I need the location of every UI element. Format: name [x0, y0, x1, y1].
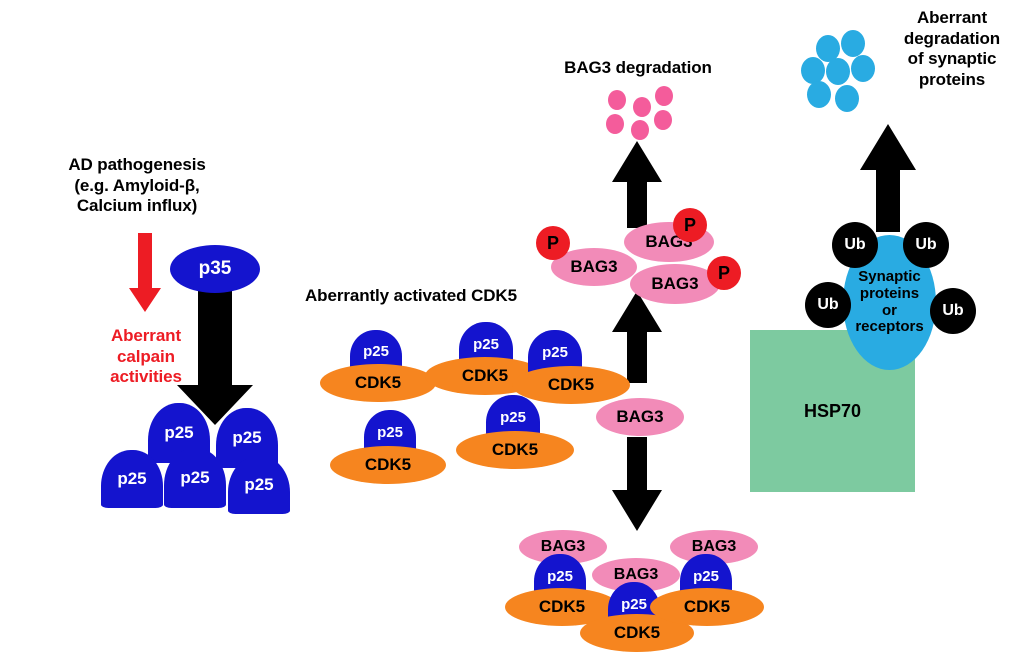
p25-label: p25 — [363, 343, 389, 360]
bag3-fragment-dot — [654, 110, 672, 130]
hsp70-label: HSP70 — [804, 401, 861, 422]
synaptic-fragment-dot — [835, 85, 859, 112]
p25-label: p25 — [693, 568, 719, 585]
synaptic-proteins-label: Synaptic proteins or receptors — [855, 269, 923, 336]
aberrant-calpain-label: Aberrant calpain activities — [85, 326, 207, 388]
bag3-cdk5-p25-complex: BAG3 p25 CDK5 — [650, 530, 786, 630]
p25-label: p25 — [547, 568, 573, 585]
bag3-label: BAG3 — [570, 257, 617, 276]
ub-label: Ub — [844, 236, 865, 254]
cdk5-p25-complex: p25 CDK5 — [456, 395, 581, 469]
phospho-group-circle: P — [536, 226, 570, 260]
synaptic-fragment-dot — [807, 81, 831, 108]
cdk5-label: CDK5 — [365, 455, 411, 474]
diagram-canvas: AD pathogenesis (e.g. Amyloid-β, Calcium… — [0, 0, 1024, 652]
cdk5-label: CDK5 — [355, 373, 401, 392]
ub-label: Ub — [817, 296, 838, 314]
p25-label: p25 — [621, 596, 647, 613]
ubiquitin-circle: Ub — [832, 222, 878, 268]
p25-label: p25 — [117, 469, 146, 489]
synaptic-degradation-arrow — [860, 124, 916, 232]
bag3-degradation-arrow — [612, 141, 662, 228]
ub-label: Ub — [942, 302, 963, 320]
ubiquitin-circle: Ub — [903, 222, 949, 268]
p25-label: p25 — [244, 475, 273, 495]
phospho-group-circle: P — [707, 256, 741, 290]
aberrantly-activated-cdk5-label: Aberrantly activated CDK5 — [305, 286, 555, 307]
p35-label: p35 — [199, 258, 232, 279]
cdk5-ellipse: CDK5 — [650, 588, 764, 626]
cdk5-label: CDK5 — [684, 597, 730, 616]
ubiquitin-circle: Ub — [805, 282, 851, 328]
cdk5-p25-complex: p25 CDK5 — [512, 330, 632, 404]
p25-label: p25 — [542, 344, 568, 361]
cdk5-label: CDK5 — [548, 375, 594, 394]
free-p25-dome: p25 — [228, 456, 290, 514]
cdk5-p25-complex: p25 CDK5 — [320, 330, 440, 402]
calpain-activation-arrow — [129, 233, 161, 312]
bag3-label: BAG3 — [616, 407, 663, 426]
p35-ellipse: p35 — [170, 245, 260, 293]
ubiquitin-circle: Ub — [930, 288, 976, 334]
cdk5-ellipse: CDK5 — [320, 364, 436, 402]
cdk5-label: CDK5 — [539, 597, 585, 616]
p25-label: p25 — [232, 428, 261, 448]
bag3-fragment-dot — [606, 114, 624, 134]
bag3-fragment-dot — [633, 97, 651, 117]
bag3-fragment-dot — [608, 90, 626, 110]
synaptic-fragment-dot — [841, 30, 865, 57]
synaptic-fragment-dot — [826, 58, 850, 85]
phospho-label: P — [718, 263, 730, 283]
bag3-binding-arrow — [612, 437, 662, 531]
bag3-degradation-label: BAG3 degradation — [540, 58, 736, 79]
phospho-group-circle: P — [673, 208, 707, 242]
synaptic-fragment-dot — [801, 57, 825, 84]
p25-label: p25 — [377, 424, 403, 441]
synaptic-fragment-dot — [851, 55, 875, 82]
bag3-label: BAG3 — [692, 538, 736, 556]
cdk5-label: CDK5 — [492, 440, 538, 459]
ad-pathogenesis-label: AD pathogenesis (e.g. Amyloid-β, Calcium… — [32, 155, 242, 217]
p25-label: p25 — [500, 409, 526, 426]
cdk5-ellipse: CDK5 — [456, 431, 574, 469]
free-bag3-ellipse: BAG3 — [596, 398, 684, 436]
p25-label: p25 — [473, 336, 499, 353]
ub-label: Ub — [915, 236, 936, 254]
phospho-label: P — [547, 233, 559, 253]
cdk5-ellipse: CDK5 — [330, 446, 446, 484]
bag3-label: BAG3 — [651, 274, 698, 293]
p25-label: p25 — [164, 423, 193, 443]
bag3-fragment-dot — [631, 120, 649, 140]
cdk5-p25-complex: p25 CDK5 — [330, 410, 450, 484]
cdk5-label: CDK5 — [462, 366, 508, 385]
phospho-label: P — [684, 215, 696, 235]
bag3-fragment-dot — [655, 86, 673, 106]
p25-label: p25 — [180, 468, 209, 488]
aberrant-degradation-synaptic-label: Aberrant degradation of synaptic protein… — [888, 8, 1016, 91]
